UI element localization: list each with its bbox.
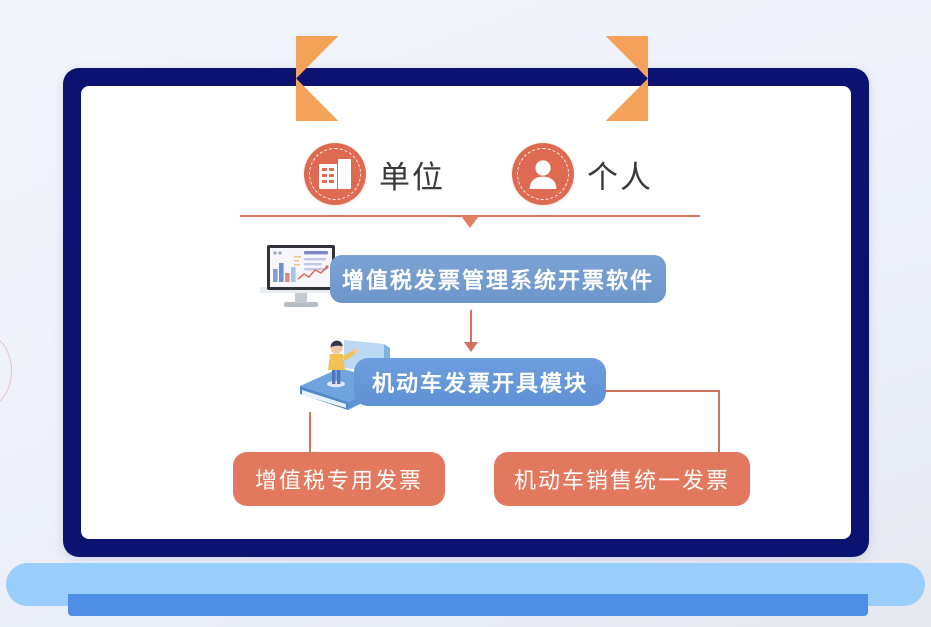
actor-individual: 个人: [512, 143, 653, 205]
decorative-circle-left: [0, 334, 12, 408]
actor-individual-label: 个人: [587, 152, 653, 197]
actor-company-label: 单位: [379, 152, 445, 197]
module-box[interactable]: 机动车发票开具模块: [354, 358, 606, 406]
software-box[interactable]: 增值税发票管理系统开票软件: [330, 255, 666, 303]
connector-right-horizontal: [606, 390, 720, 392]
output-box-special-invoice[interactable]: 增值税专用发票: [233, 452, 445, 506]
output-box-special-invoice-label: 增值税专用发票: [255, 463, 423, 495]
person-icon-glyph: [526, 157, 560, 191]
output-box-unified-invoice[interactable]: 机动车销售统一发票: [494, 452, 750, 506]
building-icon-glyph: [318, 158, 352, 190]
software-box-label: 增值税发票管理系统开票软件: [342, 263, 654, 295]
actor-row: 单位 个人: [0, 140, 931, 216]
output-box-unified-invoice-label: 机动车销售统一发票: [514, 463, 730, 495]
module-box-label: 机动车发票开具模块: [372, 366, 588, 398]
down-caret-icon: [461, 216, 479, 228]
flow-arrow-line: [470, 310, 472, 345]
person-icon: [512, 143, 574, 205]
connector-left: [309, 412, 311, 453]
laptop-base-lower: [68, 594, 868, 616]
actor-company: 单位: [304, 143, 445, 205]
building-icon: [304, 143, 366, 205]
slide-canvas: 机动车发票 单位: [0, 0, 931, 627]
connector-right-vertical: [718, 390, 720, 453]
flow-arrow-head-icon: [464, 342, 478, 352]
